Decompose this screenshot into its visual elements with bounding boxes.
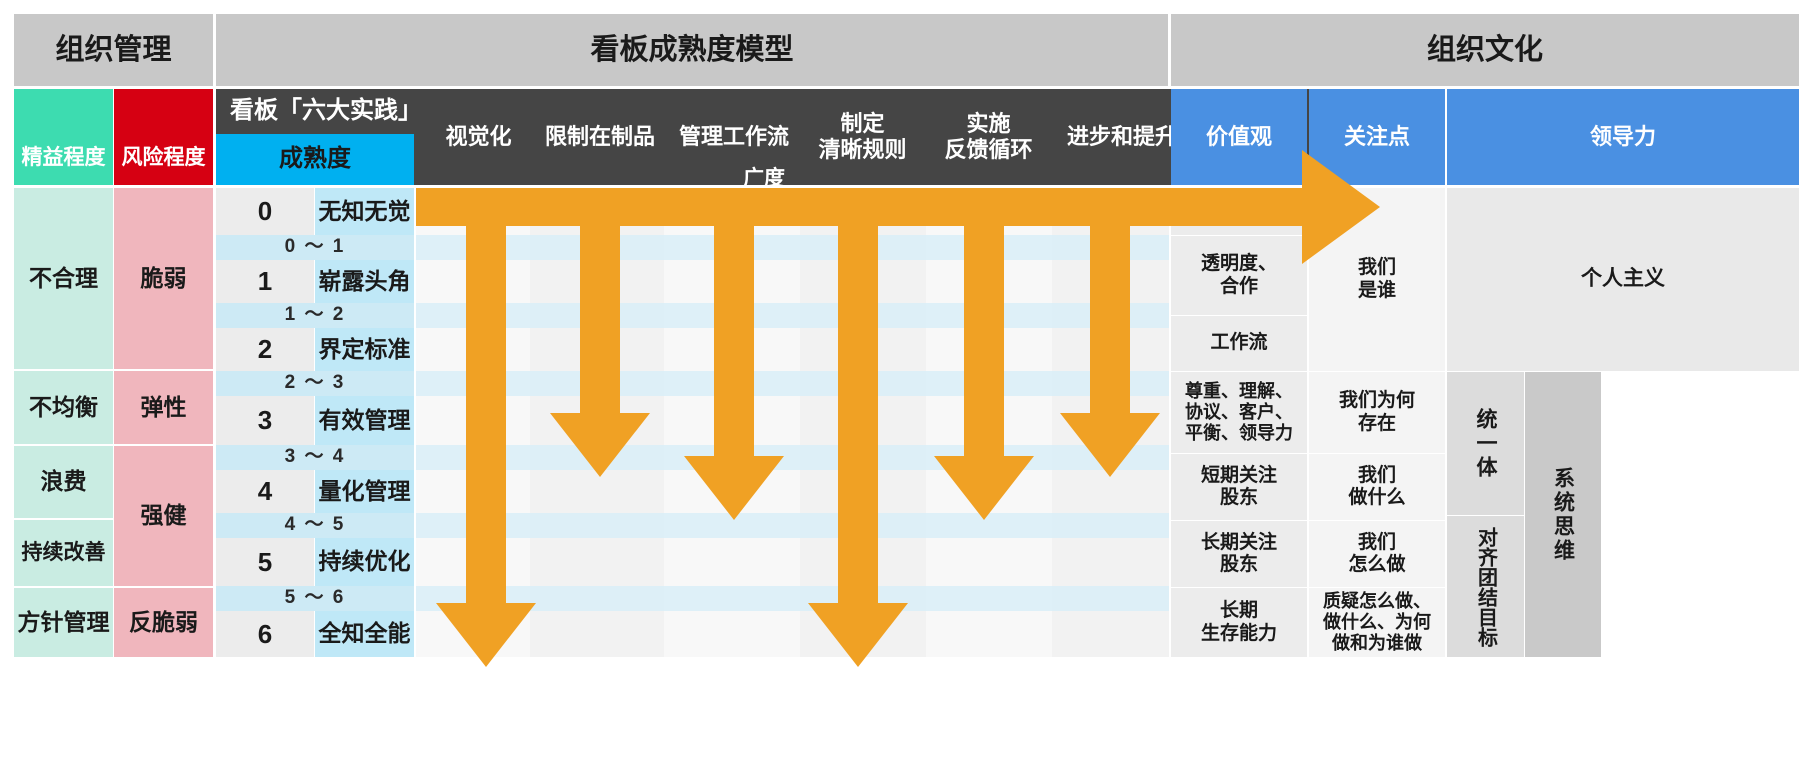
risk-cell-1: 弹性 — [114, 371, 213, 444]
maturity-num-1: 1 — [216, 260, 314, 303]
culture-header-focus: 关注点 — [1309, 89, 1445, 185]
focus-cell-4: 质疑怎么做、 做什么、为何 做和为谁做 — [1309, 588, 1445, 657]
maturity-name-3: 有效管理 — [315, 396, 414, 445]
practice-stripe-1-2 — [416, 303, 1169, 328]
kanban-maturity-model-chart: 组织管理 看板成熟度模型 组织文化 精益程度 风险程度 看板「六大实践」 成熟度… — [0, 0, 1813, 777]
lean-cell-1: 不均衡 — [14, 371, 113, 444]
maturity-num-2-label: 2 — [258, 334, 272, 365]
maturity-name-6-label: 全知全能 — [319, 620, 411, 647]
breadth-label: 广度 — [743, 162, 785, 192]
maturity-transition-2-3: 2 ～ 3 — [216, 371, 414, 396]
practice-header-limit-wip-label: 限制在制品 — [545, 124, 655, 150]
leadership-cell-alignment-label: 对齐团结目标 — [1476, 527, 1496, 647]
column-header-lean-degree-label: 精益程度 — [22, 146, 106, 171]
risk-cell-2-label: 强健 — [141, 502, 187, 529]
lean-cell-2: 浪费 — [14, 446, 113, 518]
culture-header-values-label: 价值观 — [1206, 124, 1272, 150]
culture-header-values: 价值观 — [1171, 89, 1307, 185]
focus-cell-0: 我们 是谁 — [1309, 188, 1445, 371]
practice-header-limit-wip: 限制在制品 — [530, 89, 670, 185]
practice-header-explicit-policies: 制定 清晰规则 — [800, 89, 925, 185]
values-cell-5: 长期 生存能力 — [1171, 588, 1307, 657]
maturity-transition-4-5-label: 4 ～ 5 — [285, 514, 346, 536]
maturity-num-1-label: 1 — [258, 266, 272, 297]
practice-header-visualize: 视觉化 — [416, 89, 541, 185]
maturity-transition-3-4: 3 ～ 4 — [216, 445, 414, 470]
maturity-transition-3-4-label: 3 ～ 4 — [285, 446, 346, 468]
focus-cell-2: 我们 做什么 — [1309, 454, 1445, 520]
group-header-org-culture-label: 组织文化 — [1427, 33, 1543, 67]
maturity-name-2: 界定标准 — [315, 328, 414, 371]
leadership-cell-unity: 统一体 — [1447, 372, 1524, 515]
practice-stripe-5-6 — [416, 586, 1169, 611]
maturity-transition-2-3-label: 2 ～ 3 — [285, 372, 346, 394]
maturity-num-5: 5 — [216, 538, 314, 586]
maturity-transition-1-2: 1 ～ 2 — [216, 303, 414, 328]
practice-header-explicit-policies-label: 制定 清晰规则 — [818, 111, 906, 163]
maturity-name-6: 全知全能 — [315, 611, 414, 657]
culture-header-leadership: 领导力 — [1447, 89, 1799, 185]
leadership-cell-systems-thinking-label: 系统思维 — [1551, 467, 1574, 563]
practice-stripe-3-4 — [416, 445, 1169, 470]
maturity-num-3: 3 — [216, 396, 314, 445]
practice-stripe-2-3 — [416, 371, 1169, 396]
focus-cell-3: 我们 怎么做 — [1309, 521, 1445, 587]
values-cell-0: 透明度、 合作 — [1171, 236, 1307, 315]
values-cell-3-label: 短期关注 股东 — [1201, 465, 1277, 510]
values-cell-2: 尊重、理解、 协议、客户、 平衡、领导力 — [1171, 372, 1307, 453]
maturity-name-0: 无知无觉 — [315, 188, 414, 235]
maturity-transition-1-2-label: 1 ～ 2 — [285, 304, 346, 326]
focus-cell-0-label: 我们 是谁 — [1358, 257, 1396, 302]
maturity-name-3-label: 有效管理 — [319, 407, 411, 434]
breadth-label-text: 广度 — [743, 167, 785, 190]
culture-header-focus-label: 关注点 — [1344, 124, 1410, 150]
column-header-lean-degree: 精益程度 — [14, 89, 113, 185]
maturity-transition-4-5: 4 ～ 5 — [216, 513, 414, 538]
maturity-transition-5-6-label: 5 ～ 6 — [285, 587, 346, 609]
column-header-risk-degree: 风险程度 — [114, 89, 213, 185]
practice-header-feedback-loops-label: 实施 反馈循环 — [944, 111, 1032, 163]
maturity-num-0-label: 0 — [258, 196, 272, 227]
risk-cell-1-label: 弹性 — [141, 394, 187, 421]
culture-header-leadership-label: 领导力 — [1590, 124, 1656, 150]
practice-stripe-4-5 — [416, 513, 1169, 538]
maturity-name-4: 量化管理 — [315, 470, 414, 513]
risk-cell-3: 反脆弱 — [114, 588, 213, 657]
maturity-num-0: 0 — [216, 188, 314, 235]
maturity-num-4: 4 — [216, 470, 314, 513]
maturity-transition-0-1-label: 0 ～ 1 — [285, 236, 346, 258]
lean-cell-3-label: 持续改善 — [22, 541, 106, 566]
group-header-kanban-maturity-label: 看板成熟度模型 — [590, 33, 793, 67]
lean-cell-0-label: 不合理 — [29, 265, 98, 292]
maturity-num-5-label: 5 — [258, 547, 272, 578]
maturity-transition-0-1: 0 ～ 1 — [216, 235, 414, 260]
maturity-name-0-label: 无知无觉 — [319, 198, 411, 225]
practice-header-visualize-label: 视觉化 — [445, 124, 511, 150]
risk-cell-0-label: 脆弱 — [141, 265, 187, 292]
maturity-header-label: 成熟度 — [279, 145, 351, 173]
focus-cell-1: 我们为何 存在 — [1309, 372, 1445, 453]
leadership-cell-unity-label: 统一体 — [1474, 408, 1497, 480]
values-cell-1-label: 工作流 — [1210, 332, 1267, 354]
maturity-num-2: 2 — [216, 328, 314, 371]
practice-header-feedback-loops: 实施 反馈循环 — [926, 89, 1051, 185]
leadership-cell-systems-thinking: 系统思维 — [1525, 372, 1601, 657]
column-header-risk-degree-label: 风险程度 — [122, 146, 206, 171]
practice-header-manage-flow-label: 管理工作流 — [679, 124, 789, 150]
lean-cell-4: 方针管理 — [14, 588, 113, 657]
lean-cell-1-label: 不均衡 — [29, 394, 98, 421]
maturity-header: 成熟度 — [216, 134, 414, 185]
maturity-num-4-label: 4 — [258, 476, 272, 507]
leadership-cell-individualism: 个人主义 — [1447, 188, 1799, 371]
values-cell-4-label: 长期关注 股东 — [1201, 532, 1277, 577]
maturity-num-6-label: 6 — [258, 619, 272, 650]
maturity-name-5-label: 持续优化 — [319, 548, 411, 575]
lean-cell-2-label: 浪费 — [41, 468, 87, 495]
focus-cell-2-label: 我们 做什么 — [1348, 465, 1405, 510]
group-header-kanban-maturity: 看板成熟度模型 — [216, 14, 1168, 86]
practice-stripe-0-1 — [416, 235, 1169, 260]
risk-cell-3-label: 反脆弱 — [129, 609, 198, 636]
six-practices-title-label: 看板「六大实践」 — [230, 97, 414, 125]
maturity-name-5: 持续优化 — [315, 538, 414, 586]
values-cell-5-label: 长期 生存能力 — [1201, 600, 1277, 645]
leadership-cell-individualism-label: 个人主义 — [1581, 267, 1665, 292]
focus-cell-1-label: 我们为何 存在 — [1339, 390, 1415, 435]
lean-cell-4-label: 方针管理 — [18, 609, 110, 636]
lean-cell-3: 持续改善 — [14, 520, 113, 586]
risk-cell-2: 强健 — [114, 446, 213, 586]
group-header-org-culture: 组织文化 — [1171, 14, 1799, 86]
focus-cell-3-label: 我们 怎么做 — [1348, 532, 1405, 577]
practice-header-improve-evolve-label: 进步和提升 — [1067, 124, 1177, 150]
focus-cell-4-label: 质疑怎么做、 做什么、为何 做和为谁做 — [1323, 591, 1431, 655]
six-practices-title: 看板「六大实践」 — [216, 89, 414, 134]
maturity-num-6: 6 — [216, 611, 314, 657]
risk-cell-0: 脆弱 — [114, 188, 213, 369]
maturity-name-1-label: 崭露头角 — [319, 268, 411, 295]
group-header-org-management: 组织管理 — [14, 14, 213, 86]
values-cell-4: 长期关注 股东 — [1171, 521, 1307, 587]
leadership-cell-alignment: 对齐团结目标 — [1447, 516, 1524, 657]
values-cell-0-label: 透明度、 合作 — [1201, 253, 1277, 298]
maturity-name-4-label: 量化管理 — [319, 478, 411, 505]
maturity-num-3-label: 3 — [258, 405, 272, 436]
values-cell-1: 工作流 — [1171, 316, 1307, 371]
maturity-name-1: 崭露头角 — [315, 260, 414, 303]
maturity-transition-5-6: 5 ～ 6 — [216, 586, 414, 611]
values-cell-3: 短期关注 股东 — [1171, 454, 1307, 520]
lean-cell-0: 不合理 — [14, 188, 113, 369]
values-cell-blank — [1171, 188, 1307, 235]
group-header-org-management-label: 组织管理 — [55, 33, 171, 67]
values-cell-2-label: 尊重、理解、 协议、客户、 平衡、领导力 — [1185, 381, 1293, 445]
maturity-name-2-label: 界定标准 — [319, 336, 411, 363]
